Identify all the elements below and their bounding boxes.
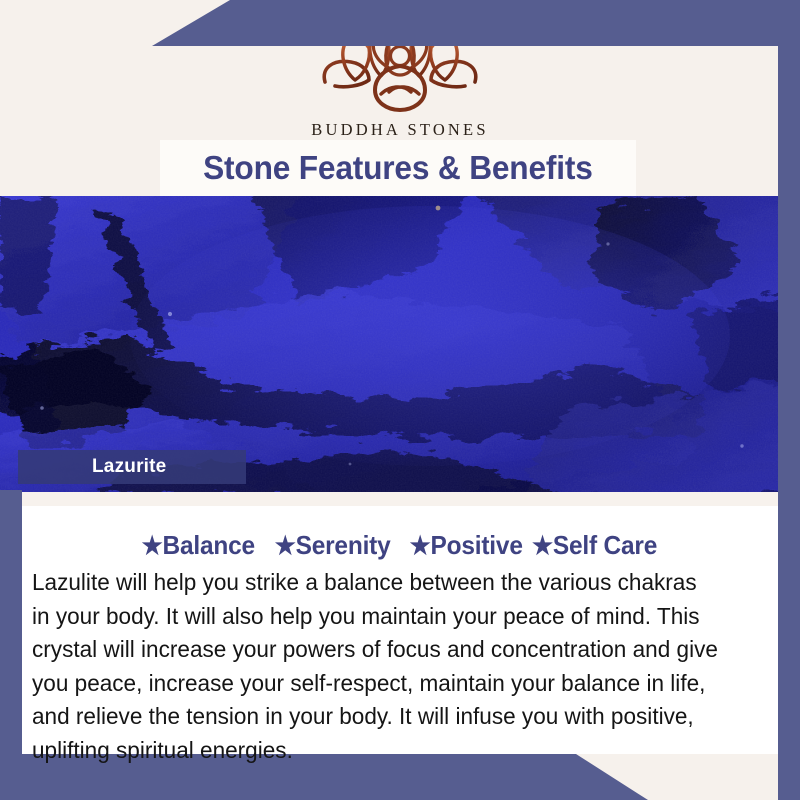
stone-photo: [0, 196, 800, 492]
keyword-self-care: ★Self Care: [532, 530, 657, 561]
keyword-balance-label: Balance: [163, 530, 255, 560]
keyword-serenity-label: Serenity: [296, 530, 391, 560]
title-panel: Stone Features & Benefits: [160, 140, 636, 196]
keyword-serenity: ★Serenity: [275, 530, 391, 561]
keyword-self-care-label: Self Care: [553, 530, 657, 560]
frame-right-band: [778, 0, 800, 800]
keyword-list: ★Balance★Serenity★Positive★Self Care: [0, 530, 800, 561]
star-icon: ★: [275, 532, 296, 560]
page-title: Stone Features & Benefits: [203, 149, 593, 187]
star-icon: ★: [532, 532, 553, 560]
keyword-balance: ★Balance: [142, 530, 255, 561]
stone-name-label: Lazurite: [18, 456, 166, 478]
description-text: Lazulite will help you strike a balance …: [32, 566, 719, 767]
keyword-positive-label: Positive: [431, 530, 523, 560]
star-icon: ★: [410, 532, 431, 560]
brand-name: BUDDHA STONES: [285, 120, 515, 140]
infographic-card: BUDDHA STONES Stone Features & Benefits …: [0, 0, 800, 800]
stone-name-bar: Lazurite: [18, 450, 246, 484]
keyword-positive: ★Positive: [410, 530, 523, 561]
content-top-strip: [22, 492, 778, 506]
star-icon: ★: [142, 532, 163, 560]
